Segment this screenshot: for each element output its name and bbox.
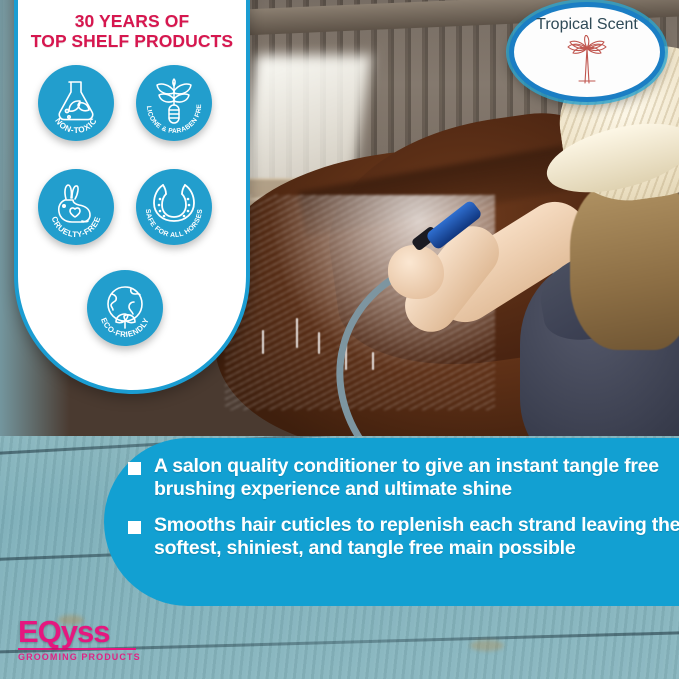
title-line-1: 30 YEARS OF	[75, 11, 190, 31]
badge-group: NON-TOXIC	[18, 65, 246, 365]
person-hair	[570, 180, 679, 350]
globe-leaf-icon: ECO-FRIENDLY	[87, 270, 163, 346]
bullet-square-icon	[128, 462, 141, 475]
svg-text:CRUELTY-FREE: CRUELTY-FREE	[50, 215, 103, 239]
svg-text:SAFE FOR ALL HORSES: SAFE FOR ALL HORSES	[144, 209, 204, 239]
hand	[388, 245, 444, 299]
title-line-2: TOP SHELF PRODUCTS	[26, 32, 238, 52]
feature-text: A salon quality conditioner to give an i…	[154, 455, 679, 500]
badge-eco-friendly: ECO-FRIENDLY	[87, 270, 163, 346]
horseshoe-icon: SAFE FOR ALL HORSES	[136, 169, 212, 245]
leaf-test-tube-icon: SILICONE & PARABEN FREE	[136, 65, 212, 141]
feature-text: Smooths hair cuticles to replenish each …	[154, 514, 679, 559]
logo-tagline: GROOMING PRODUCTS	[18, 652, 141, 662]
scent-badge-label: Tropical Scent	[536, 16, 638, 34]
feature-list: A salon quality conditioner to give an i…	[128, 455, 679, 573]
page-title: 30 YEARS OF TOP SHELF PRODUCTS	[26, 12, 238, 51]
svg-text:SILICONE & PARABEN FREE: SILICONE & PARABEN FREE	[136, 65, 203, 135]
logo-wordmark: EQyss	[18, 618, 141, 647]
badge-silicone-paraben-free: SILICONE & PARABEN FREE	[136, 65, 212, 141]
brand-logo: EQyss GROOMING PRODUCTS	[18, 618, 141, 662]
flask-leaf-icon: NON-TOXIC	[38, 65, 114, 141]
palm-tree-icon-wrap	[556, 35, 618, 94]
list-item: Smooths hair cuticles to replenish each …	[128, 514, 679, 559]
badge-cruelty-free: CRUELTY-FREE	[38, 169, 114, 245]
badge-safe-for-all-horses: SAFE FOR ALL HORSES	[136, 169, 212, 245]
palm-tree-icon	[556, 35, 618, 89]
claims-panel: 30 YEARS OF TOP SHELF PRODUCTS NON-TOXIC	[14, 0, 250, 394]
badge-non-toxic: NON-TOXIC	[38, 65, 114, 141]
bullet-square-icon	[128, 521, 141, 534]
scent-badge: Tropical Scent	[509, 2, 665, 102]
list-item: A salon quality conditioner to give an i…	[128, 455, 679, 500]
product-infographic: 30 YEARS OF TOP SHELF PRODUCTS NON-TOXIC	[0, 0, 679, 679]
features-panel: A salon quality conditioner to give an i…	[104, 438, 679, 606]
rabbit-heart-icon: CRUELTY-FREE	[38, 169, 114, 245]
